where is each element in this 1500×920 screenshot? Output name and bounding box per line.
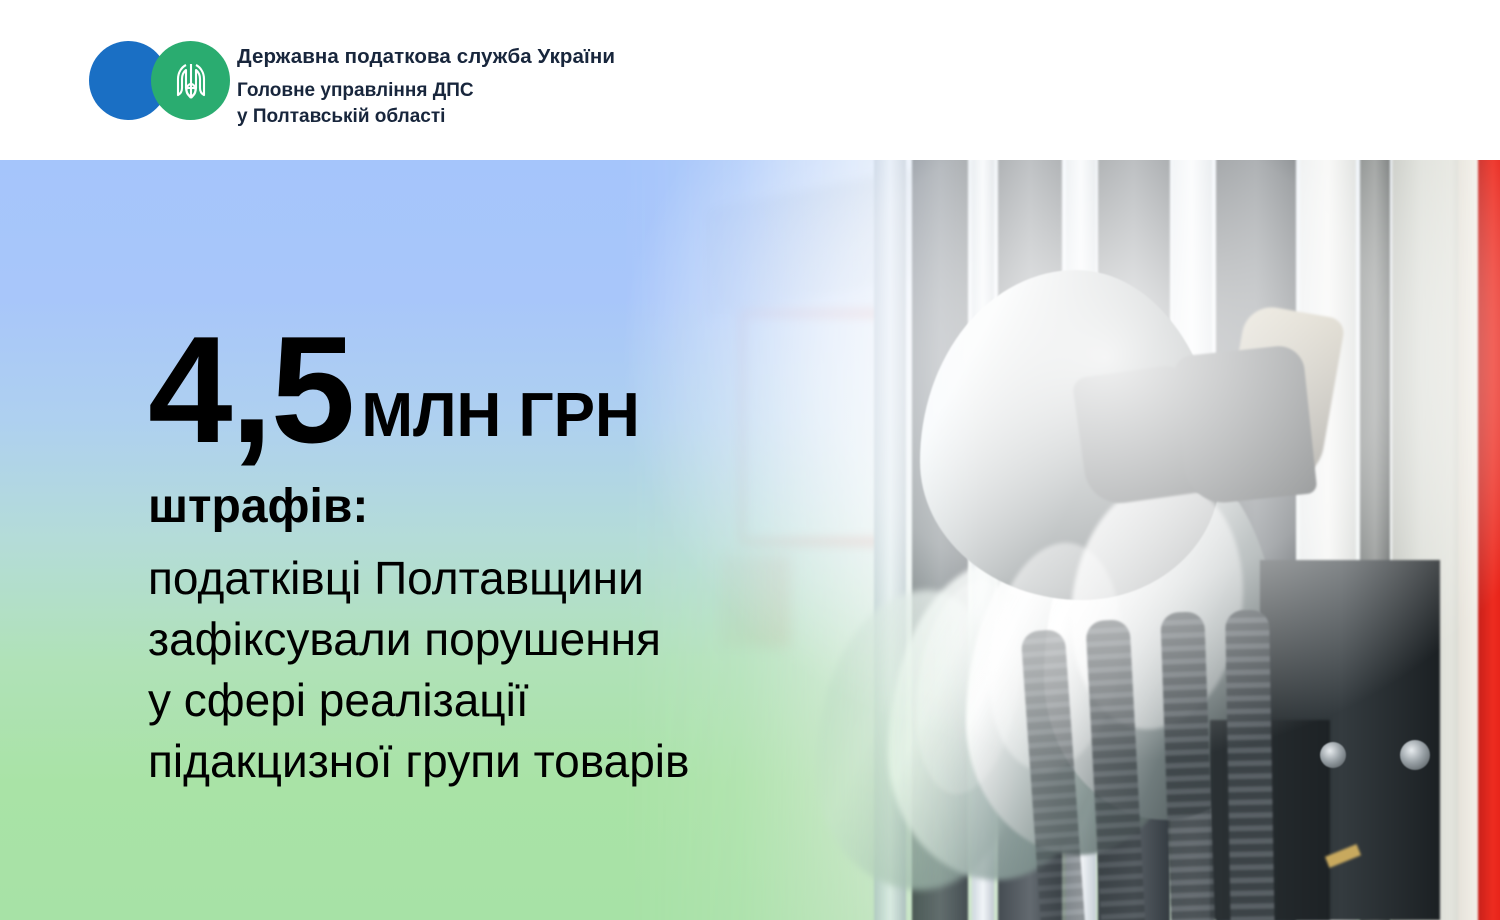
headline-lede: штрафів: bbox=[148, 482, 368, 532]
agency-title-block: Державна податкова служба України Головн… bbox=[237, 44, 757, 129]
agency-logo bbox=[89, 41, 239, 121]
statistic-row: 4,5 МЛН ГРН bbox=[148, 318, 640, 462]
ukraine-trident-icon bbox=[175, 59, 207, 103]
agency-region: у Полтавській області bbox=[237, 104, 757, 130]
site-header: Державна податкова служба України Головн… bbox=[0, 0, 1500, 160]
headline-line-1: податківці Полтавщини bbox=[148, 548, 689, 609]
headline-line-2: зафіксували порушення bbox=[148, 609, 689, 670]
headline-line-3: у сфері реалізації bbox=[148, 670, 689, 731]
agency-department: Головне управління ДПС bbox=[237, 78, 757, 104]
banner-content: 4,5 МЛН ГРН штрафів: податківці Полтавщи… bbox=[0, 160, 1500, 920]
statistic-value: 4,5 bbox=[148, 318, 353, 462]
headline-line-4: підакцизної групи товарів bbox=[148, 731, 689, 792]
headline-body: податківці Полтавщини зафіксували поруше… bbox=[148, 548, 689, 792]
agency-name: Державна податкова служба України bbox=[237, 44, 757, 70]
poster-page: Державна податкова служба України Головн… bbox=[0, 0, 1500, 920]
statistic-unit: МЛН ГРН bbox=[361, 385, 639, 447]
